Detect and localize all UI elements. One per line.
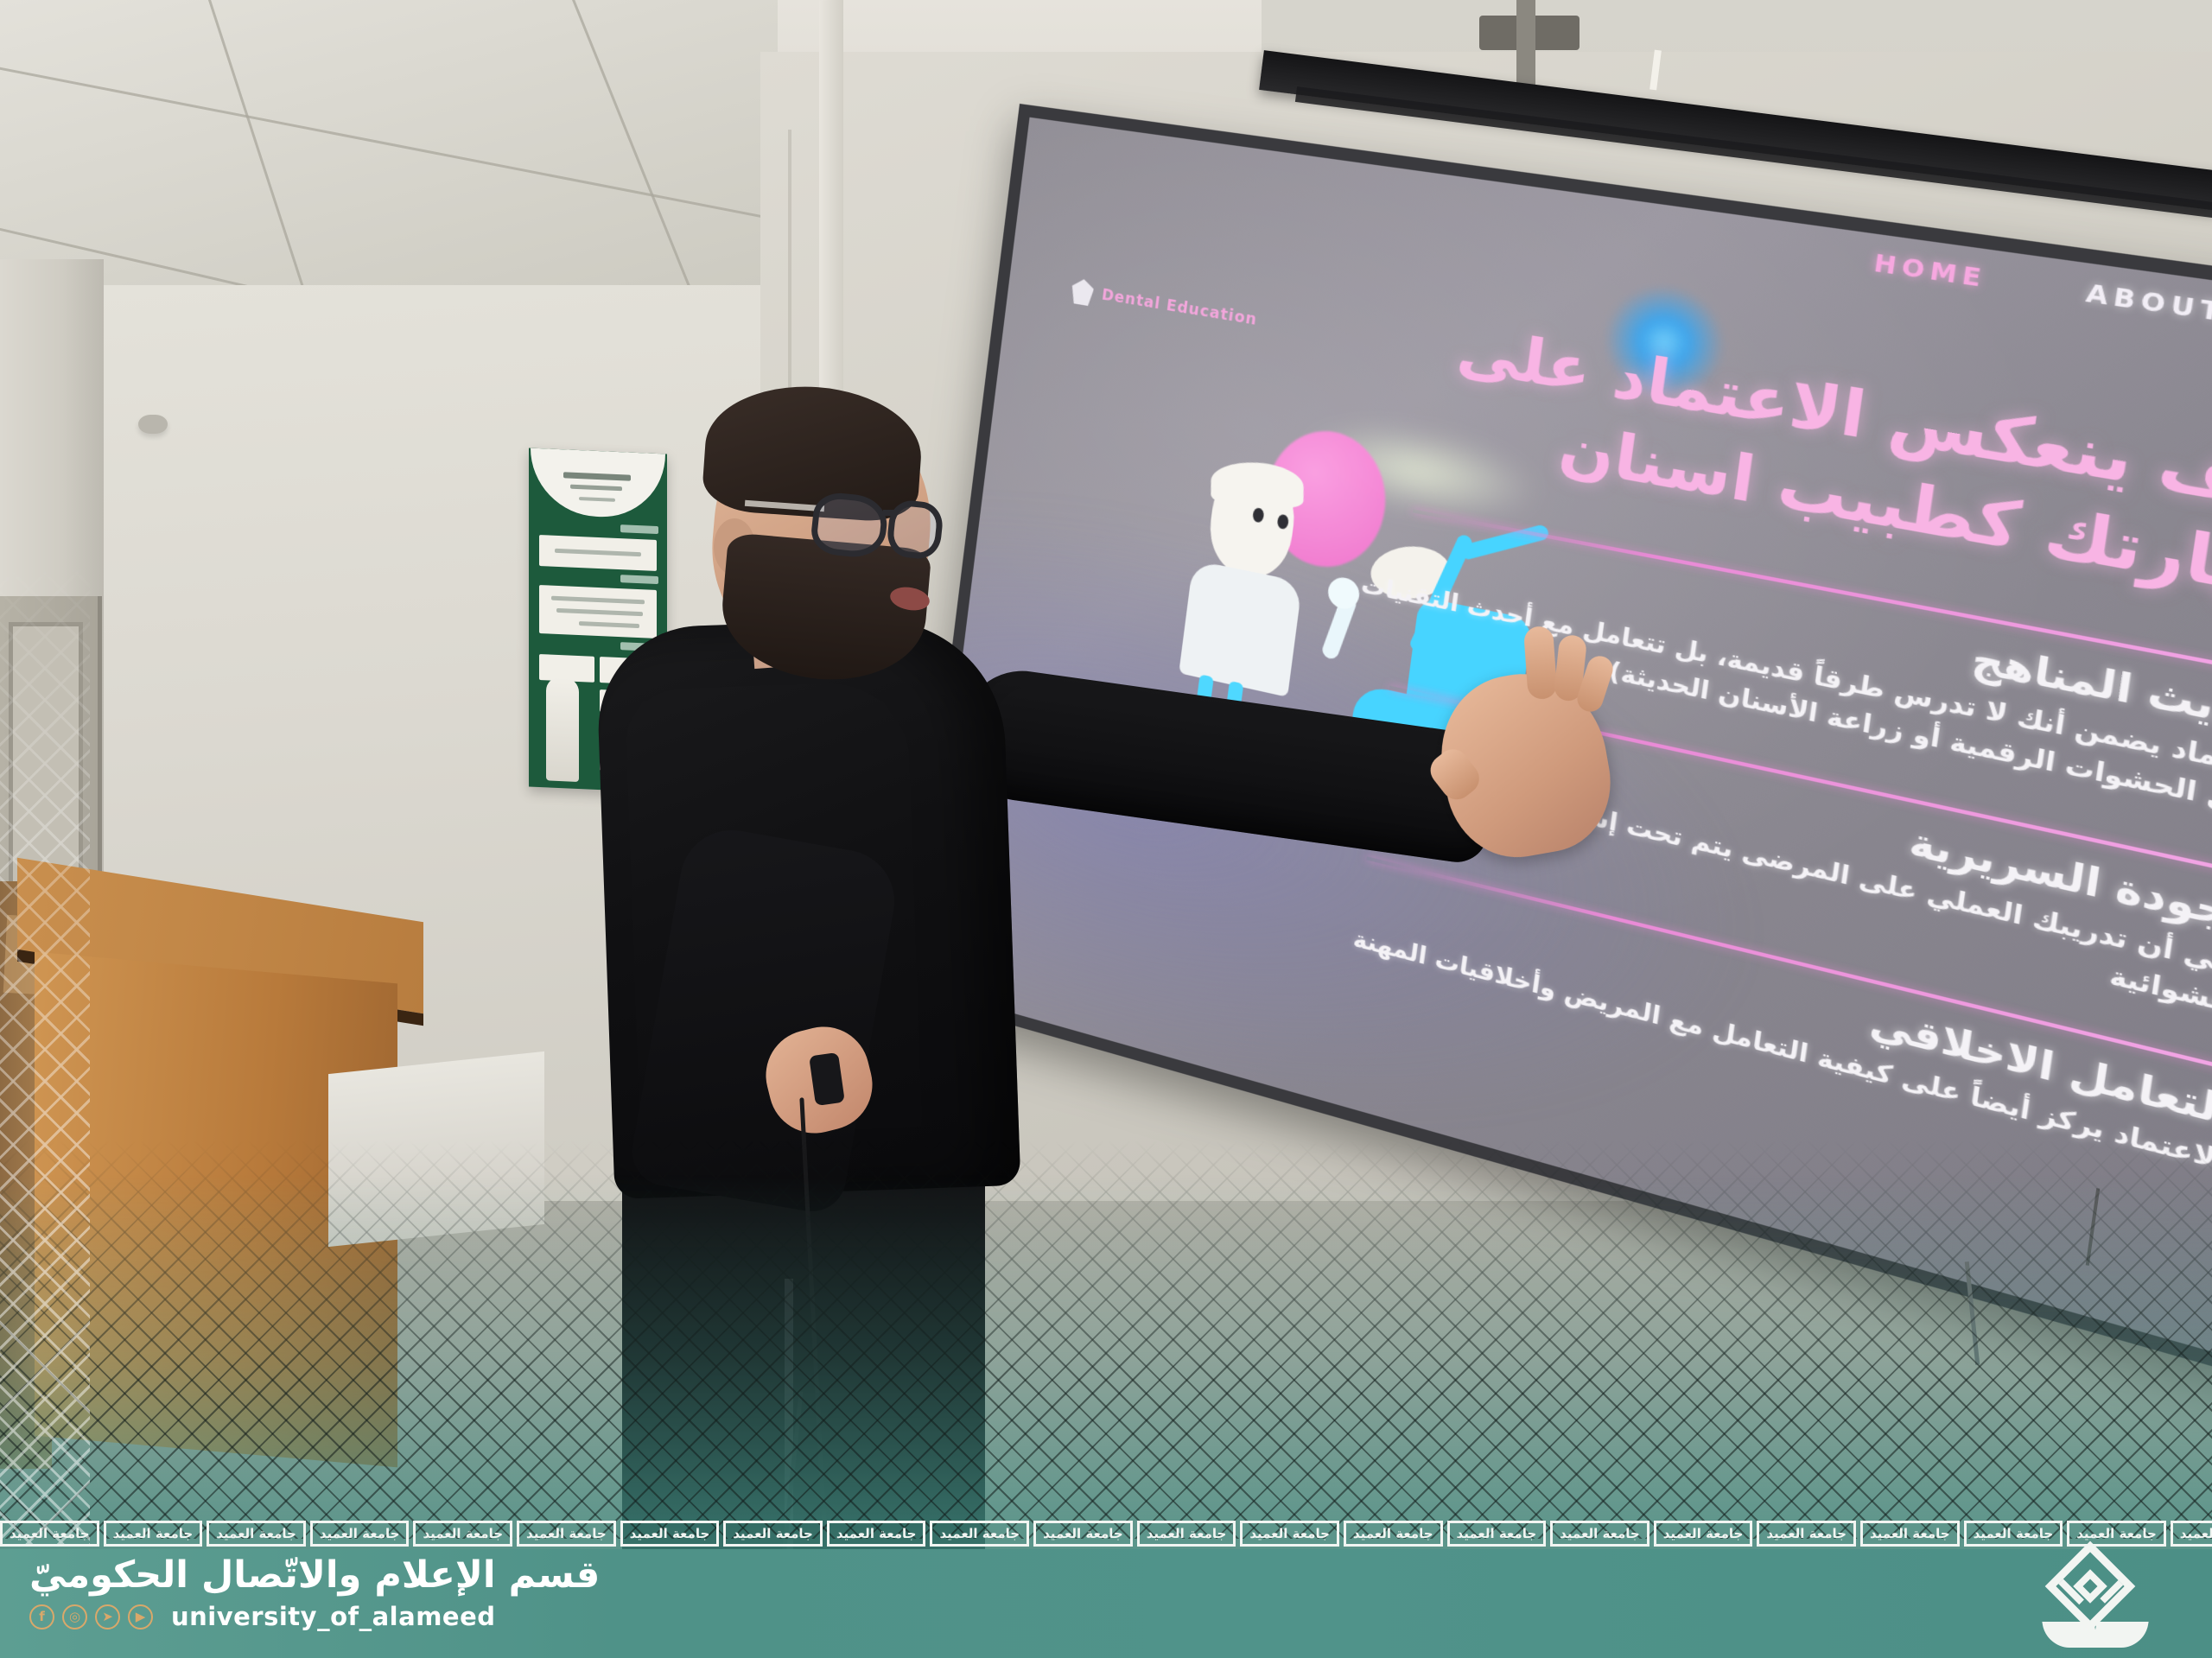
kufic-pattern-cell: جامعة العميد <box>620 1521 720 1547</box>
telegram-icon[interactable]: ➤ <box>95 1604 120 1629</box>
kufic-pattern-cell: جامعة العميد <box>1550 1521 1649 1547</box>
glasses-lens-right <box>886 499 945 561</box>
kufic-pattern-cell: جامعة العميد <box>310 1521 410 1547</box>
social-links: f ◎ ➤ ▶ university_of_alameed <box>29 1602 600 1631</box>
open-book-icon <box>2044 1618 2146 1648</box>
kufic-pattern-cell: جامعة العميد <box>1860 1521 1960 1547</box>
kufic-pattern-cell: جامعة العميد <box>207 1521 306 1547</box>
kufic-pattern-cell: جامعة العميد <box>1033 1521 1133 1547</box>
kufic-pattern-cell: جامعة العميد <box>1757 1521 1856 1547</box>
book-right-page <box>2092 1622 2148 1648</box>
kufic-pattern-cell: جامعة العميد <box>1654 1521 1753 1547</box>
slide-brand-text: Dental Education <box>1101 287 1258 330</box>
kufic-pattern-cell: جامعة العميد <box>0 1521 99 1547</box>
kufic-pattern-cell: جامعة العميد <box>723 1521 823 1547</box>
presenter-extended-arm <box>953 664 1502 867</box>
social-handle[interactable]: university_of_alameed <box>171 1602 496 1631</box>
kufic-repeating-strip: جامعة العميدجامعة العميدجامعة العميدجامع… <box>0 1518 2212 1549</box>
kufic-pattern-cell: جامعة العميد <box>1344 1521 1443 1547</box>
footer-text-block: قسم الإعلام والاتّصال الحكوميّ f ◎ ➤ ▶ u… <box>29 1556 600 1631</box>
book-left-page <box>2042 1622 2098 1648</box>
slide-nav-item-about[interactable]: ABOUT <box>2084 279 2212 328</box>
footer-banner: قسم الإعلام والاتّصال الحكوميّ f ◎ ➤ ▶ u… <box>0 1549 2212 1658</box>
side-table <box>328 1051 544 1247</box>
kufic-pattern-cell: جامعة العميد <box>104 1521 203 1547</box>
kufic-pattern-cell: جامعة العميد <box>1964 1521 2063 1547</box>
instagram-icon[interactable]: ◎ <box>62 1604 87 1629</box>
kufic-pattern-cell: جامعة العميد <box>1447 1521 1547 1547</box>
pentagon-logo-mark-icon <box>1070 277 1095 307</box>
presenter-hair <box>701 379 925 524</box>
kufic-pattern-cell: جامعة العميد <box>930 1521 1029 1547</box>
department-name: قسم الإعلام والاتّصال الحكوميّ <box>29 1556 600 1595</box>
kufic-pattern-cell: جامعة العميد <box>2067 1521 2166 1547</box>
kufic-pattern-cell: جامعة العميد <box>827 1521 926 1547</box>
kufic-pattern-cell: جامعة العميد <box>1137 1521 1236 1547</box>
slide-nav-item-home[interactable]: HOME <box>1872 249 1988 293</box>
kufic-pattern-cell: جامعة العميد <box>517 1521 616 1547</box>
screenshot-root: HOME ABOUT M Dental Education كيف ينعكس … <box>0 0 2212 1658</box>
presenter <box>553 372 1555 1512</box>
kufic-pattern-cell: جامعة العميد <box>1240 1521 1339 1547</box>
slide-brand: Dental Education <box>1070 277 1259 334</box>
smoke-detector-icon <box>138 415 168 434</box>
kufic-pattern-cell: جامعة العميد <box>413 1521 512 1547</box>
al-ameed-university-logo <box>2039 1554 2152 1648</box>
kufic-pattern-cell: جامعة العميد <box>2171 1521 2212 1547</box>
youtube-icon[interactable]: ▶ <box>128 1604 153 1629</box>
facebook-icon[interactable]: f <box>29 1604 54 1629</box>
